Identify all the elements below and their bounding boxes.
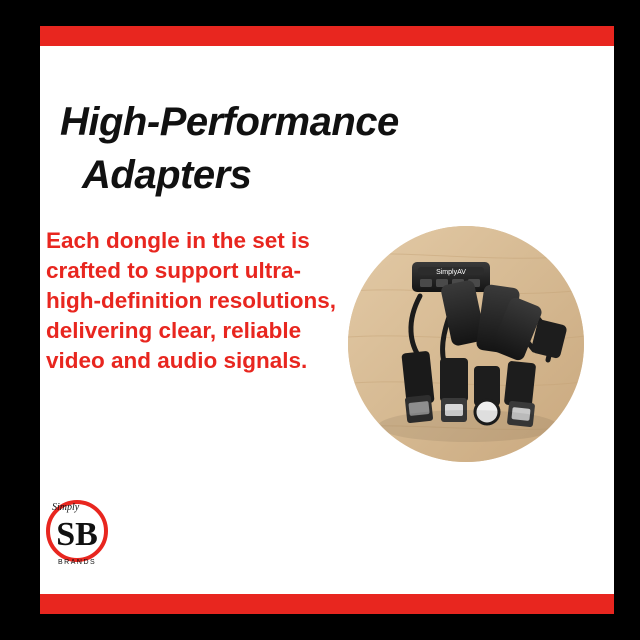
top-accent-bar <box>26 26 614 46</box>
slide-canvas: High-Performance Adapters Each dongle in… <box>0 0 640 640</box>
title-line-2: Adapters <box>60 149 530 202</box>
slide-body-text: Each dongle in the set is crafted to sup… <box>46 226 346 376</box>
product-photo: SimplyAV <box>348 226 584 462</box>
brand-logo: Simply SB BRANDS <box>34 488 120 574</box>
device-label: SimplyAV <box>436 269 466 276</box>
logo-bottom-word: BRANDS <box>58 559 96 566</box>
content-panel: High-Performance Adapters Each dongle in… <box>26 26 614 614</box>
bottom-accent-bar <box>26 594 614 614</box>
slide-title: High-Performance Adapters <box>60 96 530 202</box>
brand-logo-mark: Simply SB BRANDS <box>34 488 120 574</box>
logo-monogram: SB <box>56 516 98 553</box>
title-line-1: High-Performance <box>60 100 399 144</box>
logo-top-word: Simply <box>52 502 80 513</box>
product-photo-illustration: SimplyAV <box>348 226 584 462</box>
